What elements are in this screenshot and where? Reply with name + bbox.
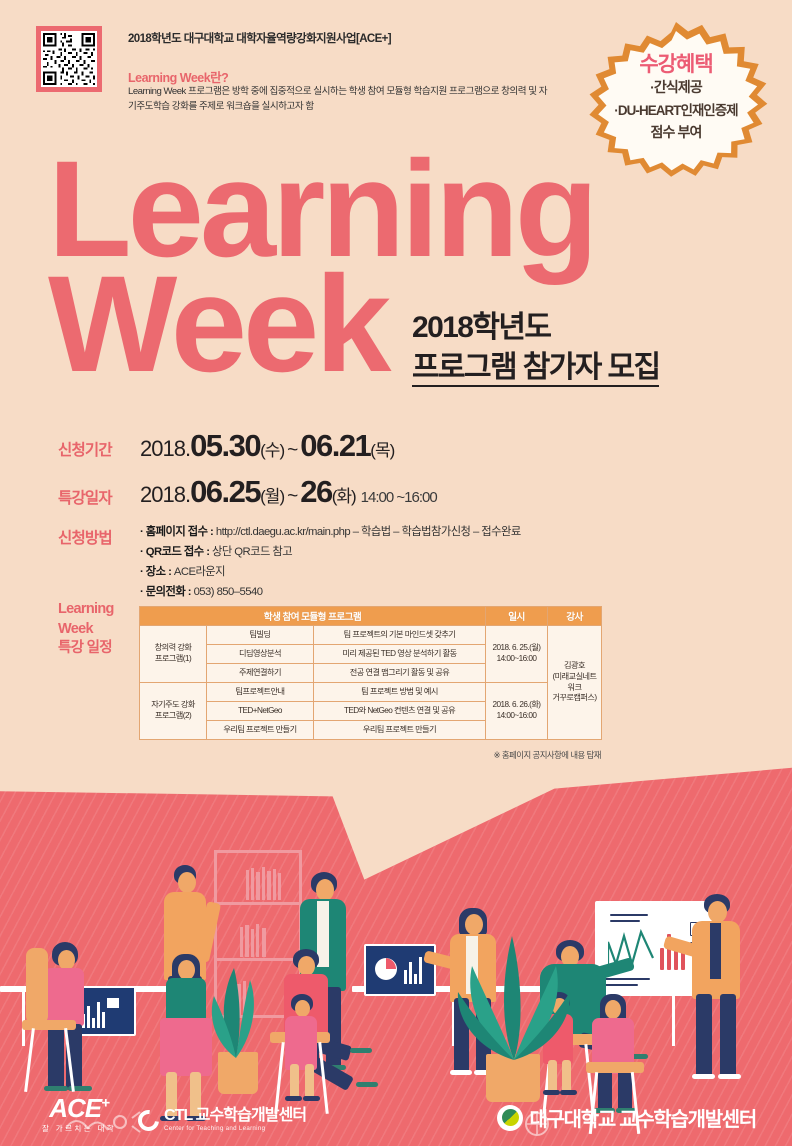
- desk-leg: [22, 990, 25, 1046]
- board-line: [610, 914, 648, 916]
- apply-item-value[interactable]: http://ctl.daegu.ac.kr/main.php – 학습법 – …: [216, 526, 521, 538]
- subtitle-line-2: 프로그램 참가자 모집: [412, 351, 659, 387]
- poster-root: 2018학년도 대구대학교 대학자율역량강화지원사업[ACE+] Learnin…: [0, 0, 792, 1146]
- monitor-chart-icon: [372, 952, 428, 988]
- module-name: 디딤영상분석: [207, 645, 314, 664]
- ace-wordmark: ACE+: [42, 1095, 116, 1121]
- badge-line-1: ·간식제공: [578, 78, 774, 98]
- org-line: 2018학년도 대구대학교 대학자율역량강화지원사업[ACE+]: [128, 30, 391, 46]
- schedule-side-label-3: 특강 일정: [58, 639, 114, 659]
- book: [251, 868, 254, 900]
- schedule-side-label: Learning Week 특강 일정: [58, 600, 114, 659]
- apply-item-key: · 문의전화 :: [140, 586, 194, 598]
- lecture-tilde: ~: [284, 486, 300, 507]
- qr-code-icon[interactable]: [36, 26, 102, 92]
- ace-logo: ACE+ 잘 가르치는 대학: [42, 1095, 116, 1134]
- table-row: 자기주도 강화 프로그램(2) 팀프로젝트안내 팀 프로젝트 방법 및 예시 2…: [140, 683, 602, 702]
- chair-seat: [22, 1020, 76, 1030]
- module-desc: 전공 연결 맵그리기 활동 및 공유: [314, 664, 486, 683]
- board-line: [610, 920, 640, 922]
- book: [246, 870, 249, 900]
- chair-back: [26, 948, 48, 1024]
- monitor-chart-icon: [82, 996, 126, 1028]
- group-name-2: 자기주도 강화 프로그램(2): [140, 683, 207, 740]
- period-end: 06.21: [300, 428, 370, 463]
- book: [262, 928, 266, 957]
- ctl-logo-text: CTL 교수학습개발센터 Center for Teaching and Lea…: [164, 1108, 306, 1132]
- ctl-c-icon: [134, 1105, 163, 1134]
- person-leg: [720, 994, 736, 1078]
- period-start-day: (수): [260, 441, 284, 460]
- module-name: 주제연결하기: [207, 664, 314, 683]
- period-tilde: ~: [284, 440, 300, 461]
- table-header-row: 학생 참여 모듈형 프로그램 일시 강사: [140, 607, 602, 626]
- book: [267, 871, 271, 900]
- group-name-1: 창의력 강화 프로그램(1): [140, 626, 207, 683]
- lecture-end: 26: [300, 474, 331, 509]
- group-datetime-2: 2018. 6. 26.(화) 14:00~16:00: [486, 683, 548, 740]
- person-tie: [710, 923, 721, 979]
- book: [262, 867, 265, 900]
- person-head: [708, 901, 727, 923]
- period-end-day: (목): [370, 441, 394, 460]
- apply-method-row: 신청방법 · 홈페이지 접수 : http://ctl.daegu.ac.kr/…: [0, 522, 792, 602]
- badge-line-2: ·DU-HEART인재인증제: [578, 101, 774, 120]
- ace-plus-text: +: [101, 1094, 109, 1111]
- emblem-inner: [502, 1109, 519, 1126]
- apply-item: · 문의전화 : 053) 850–5540: [140, 582, 792, 602]
- lecture-date-label: 특강일자: [58, 486, 112, 508]
- apply-item: · QR코드 접수 : 상단 QR코드 참고: [140, 542, 792, 562]
- apply-item-value: 상단 QR코드 참고: [212, 546, 292, 558]
- person-skirt: [160, 1018, 212, 1076]
- person-body: [44, 968, 84, 1026]
- badge-title: 수강혜택: [578, 54, 774, 75]
- person-head: [295, 1000, 310, 1017]
- book: [273, 869, 276, 900]
- lecture-date-value: 2018.06.25(월)~26(화)14:00 ~16:00: [140, 474, 792, 510]
- module-desc: 미리 제공된 TED 영상 분석하기 활동: [314, 645, 486, 664]
- person-head: [178, 872, 196, 893]
- apply-item-key: · 장소 :: [140, 566, 174, 578]
- period-start: 05.30: [190, 428, 260, 463]
- ctl-main-text: CTL 교수학습개발센터: [164, 1108, 306, 1125]
- period-year: 2018.: [140, 436, 190, 461]
- person-shoe: [450, 1070, 472, 1075]
- person-head: [178, 960, 195, 980]
- board-bar: [681, 952, 685, 970]
- desk-leg: [672, 990, 675, 1046]
- university-emblem-icon: [497, 1105, 523, 1131]
- apply-method-label: 신청방법: [58, 526, 112, 548]
- book: [251, 929, 254, 957]
- page-subtitle: 2018학년도 프로그램 참가자 모집: [412, 308, 659, 387]
- daegu-university-text: 대구대학교 교수학습개발센터: [529, 1103, 756, 1132]
- apply-item-key: · QR코드 접수 :: [140, 546, 212, 558]
- instructor-cell: 김광호 (미래교실네트워크 거꾸로캠퍼스): [548, 626, 602, 740]
- th-datetime: 일시: [486, 607, 548, 626]
- badge-line-3: 점수 부여: [578, 123, 774, 143]
- person-shoe: [350, 1048, 372, 1053]
- ctl-sub-text: Center for Teaching and Learning: [164, 1125, 306, 1132]
- group-datetime-1: 2018. 6. 25.(월) 14:00~16:00: [486, 626, 548, 683]
- person-shoe: [692, 1074, 715, 1079]
- apply-item-value: 053) 850–5540: [194, 586, 263, 598]
- person-shoe: [718, 1074, 741, 1079]
- book: [240, 927, 243, 957]
- book: [245, 925, 249, 957]
- lecture-end-day: (화): [332, 487, 356, 506]
- apply-item-key: · 홈페이지 접수 :: [140, 526, 216, 538]
- person-leg: [48, 1024, 64, 1090]
- book: [278, 873, 281, 900]
- schedule-side-label-2: Week: [58, 620, 114, 640]
- apply-item-value: ACE라운지: [174, 566, 225, 578]
- application-period-row: 신청기간 2018.05.30(수)~06.21(목): [0, 428, 792, 472]
- application-period-value: 2018.05.30(수)~06.21(목): [140, 428, 792, 464]
- person-head: [605, 1000, 621, 1019]
- lecture-date-row: 특강일자 2018.06.25(월)~26(화)14:00 ~16:00: [0, 474, 792, 520]
- lecture-year: 2018.: [140, 482, 190, 507]
- module-desc: 우리팀 프로젝트 만들기: [314, 721, 486, 740]
- benefit-badge: 수강혜택 ·간식제공 ·DU-HEART인재인증제 점수 부여: [578, 22, 774, 202]
- board-bar: [660, 948, 664, 970]
- person-head: [316, 879, 334, 901]
- plant-leaves-icon: [206, 962, 268, 1058]
- table-row: 창의력 강화 프로그램(1) 팀빌딩 팀 프로젝트의 기본 마인드셋 갖추기 2…: [140, 626, 602, 645]
- shelf: [217, 902, 299, 905]
- module-name: 우리팀 프로젝트 만들기: [207, 721, 314, 740]
- book: [256, 924, 259, 957]
- module-name: 팀프로젝트안내: [207, 683, 314, 702]
- module-desc: 팀 프로젝트 방법 및 예시: [314, 683, 486, 702]
- board-line: [600, 978, 650, 980]
- module-name: TED+NetGeo: [207, 702, 314, 721]
- ace-word-text: ACE: [49, 1093, 101, 1123]
- lecture-start-day: (월): [260, 487, 284, 506]
- subtitle-line-1: 2018학년도: [412, 308, 659, 348]
- module-name: 팀빌딩: [207, 626, 314, 645]
- th-instructor: 강사: [548, 607, 602, 626]
- info-block: 신청기간 2018.05.30(수)~06.21(목) 특강일자 2018.06…: [0, 428, 792, 604]
- plant-leaves-icon: [452, 930, 576, 1060]
- th-program: 학생 참여 모듈형 프로그램: [140, 607, 486, 626]
- module-desc: TED와 NetGeo 컨텐츠 연결 및 공유: [314, 702, 486, 721]
- schedule-note: ※ 홈페이지 공지사항에 내용 탑재: [0, 749, 601, 761]
- daegu-university-logo: 대구대학교 교수학습개발센터: [497, 1103, 756, 1132]
- shelf: [217, 958, 299, 961]
- speech-bubble-shape: [0, 762, 792, 890]
- module-desc: 팀 프로젝트의 기본 마인드셋 갖추기: [314, 626, 486, 645]
- person-body: [285, 1016, 317, 1070]
- person-head: [298, 956, 315, 976]
- intro-title: Learning Week란?: [128, 67, 228, 86]
- chair-leg: [24, 1028, 34, 1092]
- schedule-side-label-1: Learning: [58, 600, 114, 620]
- lecture-start: 06.25: [190, 474, 260, 509]
- book: [256, 872, 260, 900]
- lecture-time: 14:00 ~16:00: [361, 489, 437, 506]
- poster-footer: ACE+ 잘 가르치는 대학 CTL 교수학습개발센터 Center for T…: [0, 1084, 792, 1146]
- person-leg: [696, 994, 712, 1078]
- ctl-logo: CTL 교수학습개발센터 Center for Teaching and Lea…: [138, 1108, 306, 1132]
- person-head: [58, 950, 75, 970]
- ace-tagline: 잘 가르치는 대학: [42, 1123, 116, 1134]
- apply-item: · 장소 : ACE라운지: [140, 562, 792, 582]
- apply-item: · 홈페이지 접수 : http://ctl.daegu.ac.kr/main.…: [140, 522, 792, 542]
- apply-method-list: · 홈페이지 접수 : http://ctl.daegu.ac.kr/main.…: [140, 522, 792, 602]
- intro-body: Learning Week 프로그램은 방학 중에 집중적으로 실시하는 학생 …: [128, 85, 548, 115]
- badge-content: 수강혜택 ·간식제공 ·DU-HEART인재인증제 점수 부여: [578, 54, 774, 143]
- application-period-label: 신청기간: [58, 438, 112, 460]
- schedule-table: 학생 참여 모듈형 프로그램 일시 강사 창의력 강화 프로그램(1) 팀빌딩 …: [139, 606, 602, 740]
